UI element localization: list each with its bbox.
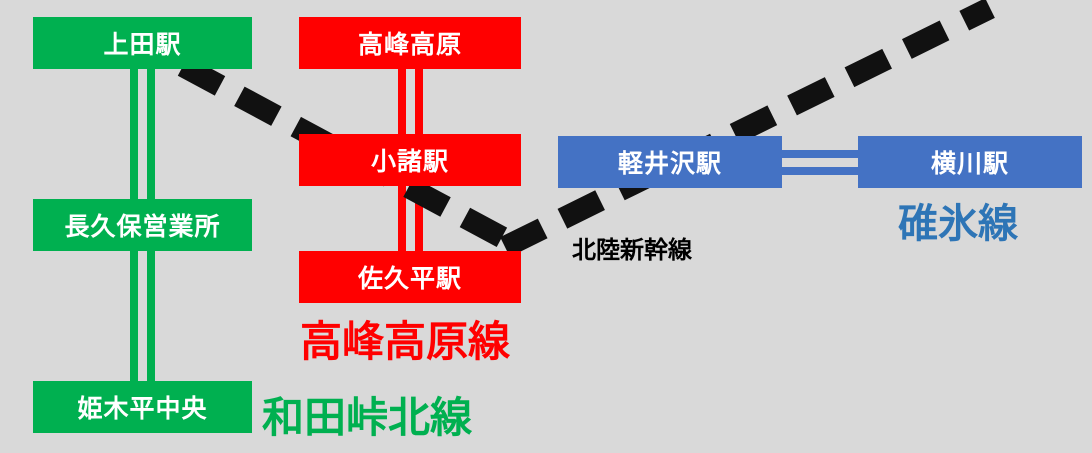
line-label-hokuriku-shinkansen-text: 北陸新幹線 bbox=[572, 236, 692, 264]
station-takamine-kogen-label: 高峰高原 bbox=[358, 25, 462, 61]
line-label-usui-sen-text: 碓氷線 bbox=[898, 201, 1018, 247]
connector-takamine-komoro bbox=[398, 69, 423, 135]
station-himekidaira-label: 姫木平中央 bbox=[77, 389, 207, 425]
station-ueda[interactable]: 上田駅 bbox=[33, 17, 252, 69]
station-komoro[interactable]: 小諸駅 bbox=[299, 134, 521, 186]
station-sakudaira[interactable]: 佐久平駅 bbox=[299, 251, 521, 303]
station-karuizawa[interactable]: 軽井沢駅 bbox=[558, 136, 782, 188]
station-himekidaira[interactable]: 姫木平中央 bbox=[33, 381, 252, 433]
station-takamine-kogen[interactable]: 高峰高原 bbox=[299, 17, 521, 69]
line-label-usui-sen: 碓氷線 bbox=[898, 191, 1018, 249]
station-ueda-label: 上田駅 bbox=[103, 25, 181, 61]
line-label-hokuriku-shinkansen: 北陸新幹線 bbox=[572, 230, 692, 265]
transit-route-diagram: 上田駅 長久保営業所 姫木平中央 和田峠北線 高峰高原 小諸駅 佐久平駅 高峰高… bbox=[0, 0, 1092, 453]
station-nagakubo[interactable]: 長久保営業所 bbox=[33, 199, 252, 251]
connector-ueda-nagakubo bbox=[130, 66, 155, 204]
connector-komoro-sakudaira bbox=[398, 186, 423, 253]
line-label-takamine-kogen-sen-text: 高峰高原線 bbox=[300, 317, 510, 366]
connector-karuizawa-yokokawa bbox=[780, 150, 860, 175]
connector-nagakubo-himekidaira bbox=[130, 245, 155, 385]
line-label-takamine-kogen-sen: 高峰高原線 bbox=[300, 308, 510, 369]
line-label-wadatoge-kitasen: 和田峠北線 bbox=[262, 384, 472, 445]
station-yokokawa-label: 横川駅 bbox=[931, 144, 1009, 180]
station-yokokawa[interactable]: 横川駅 bbox=[858, 136, 1082, 188]
station-nagakubo-label: 長久保営業所 bbox=[64, 207, 220, 243]
line-label-wadatoge-kitasen-text: 和田峠北線 bbox=[262, 393, 472, 442]
station-komoro-label: 小諸駅 bbox=[371, 142, 449, 178]
station-sakudaira-label: 佐久平駅 bbox=[358, 259, 462, 295]
station-karuizawa-label: 軽井沢駅 bbox=[618, 144, 722, 180]
